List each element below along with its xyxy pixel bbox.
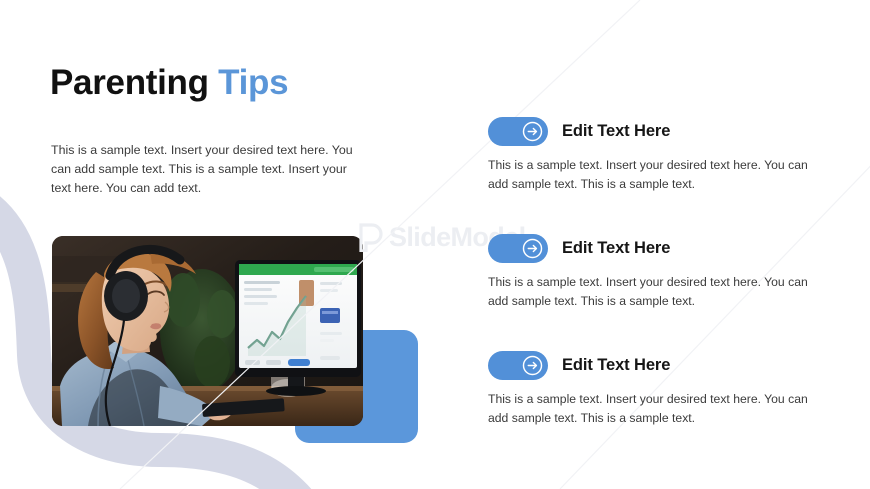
feature-body-3: This is a sample text. Insert your desir…: [488, 390, 810, 428]
feature-block-1: Edit Text Here This is a sample text. In…: [488, 117, 818, 206]
feature-block-1-header: Edit Text Here: [488, 117, 818, 146]
feature-body-1: This is a sample text. Insert your desir…: [488, 156, 810, 194]
arrow-right-circle-icon: [521, 120, 544, 143]
feature-pill-1[interactable]: [488, 117, 548, 146]
feature-body-2: This is a sample text. Insert your desir…: [488, 273, 810, 311]
feature-title-2: Edit Text Here: [562, 239, 670, 258]
feature-block-2: Edit Text Here This is a sample text. In…: [488, 234, 818, 323]
page-title-primary: Parenting: [50, 63, 218, 102]
page-title: Parenting Tips: [50, 63, 288, 103]
feature-pill-2[interactable]: [488, 234, 548, 263]
feature-block-3: Edit Text Here This is a sample text. In…: [488, 351, 818, 440]
feature-block-2-header: Edit Text Here: [488, 234, 818, 263]
feature-title-3: Edit Text Here: [562, 356, 670, 375]
arrow-right-circle-icon: [521, 354, 544, 377]
page-title-accent: Tips: [218, 63, 288, 102]
feature-title-1: Edit Text Here: [562, 122, 670, 141]
slide-canvas: Parenting Tips This is a sample text. In…: [0, 0, 870, 489]
feature-pill-3[interactable]: [488, 351, 548, 380]
photo-woman-with-headphones-at-computer: [52, 236, 363, 426]
intro-paragraph: This is a sample text. Insert your desir…: [51, 141, 353, 198]
arrow-right-circle-icon: [521, 237, 544, 260]
feature-block-3-header: Edit Text Here: [488, 351, 818, 380]
